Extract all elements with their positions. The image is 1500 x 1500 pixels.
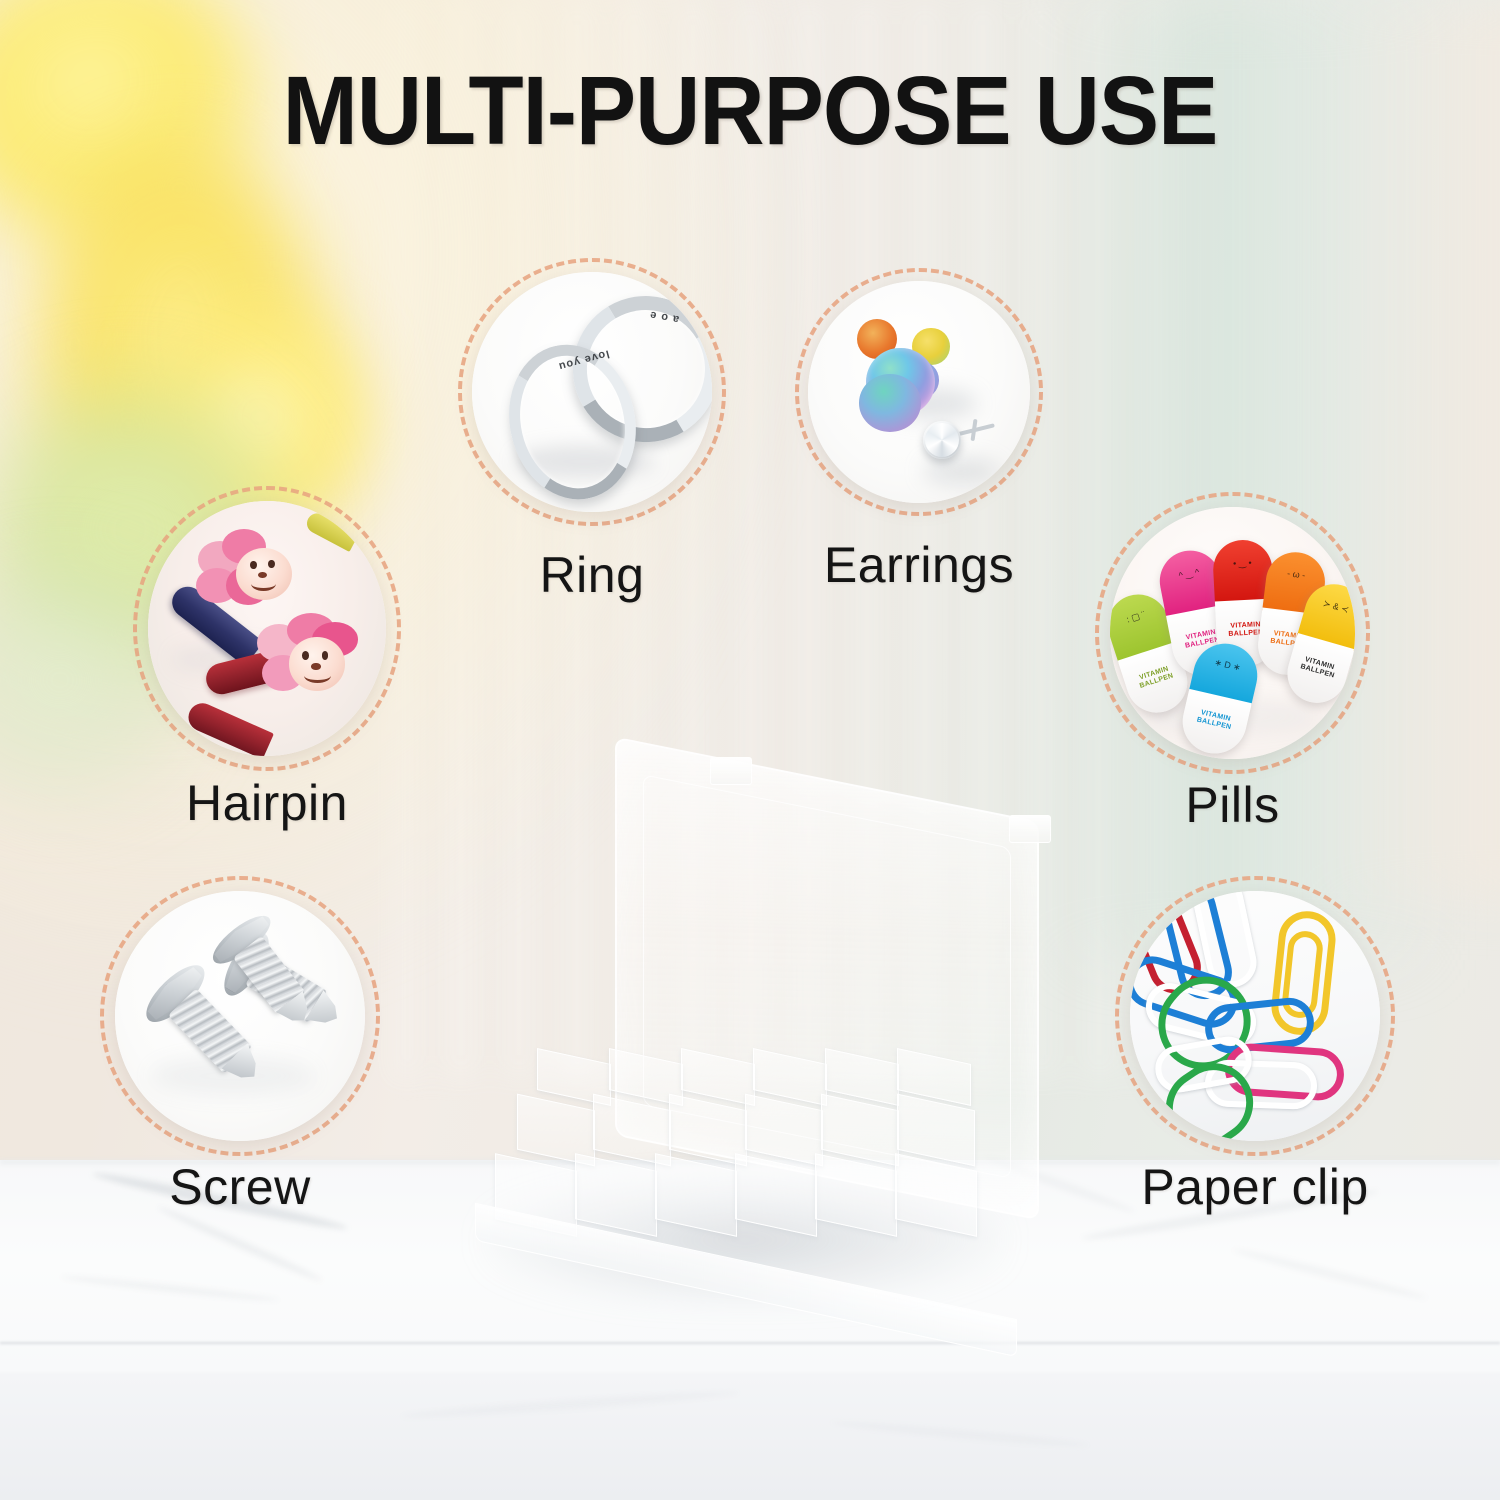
callout-screw: Screw: [100, 876, 380, 1156]
product-marketing-image: MULTI-PURPOSE USE a o e love you Ring: [0, 0, 1500, 1500]
counter-front-edge: [0, 1342, 1500, 1345]
callout-label-earrings: Earrings: [795, 536, 1043, 594]
hairpin-red-clip-2: [184, 699, 274, 756]
callout-hairpin: Hairpin: [133, 486, 401, 771]
hairpin-yellow-partial: [303, 510, 359, 553]
callout-label-pills: Pills: [1095, 776, 1370, 834]
compartment: [681, 1048, 755, 1106]
earring-mouse-body: [859, 374, 921, 432]
callout-pills: : ▢ ¨ VITAMINBALLPEN ^ ‿ ^ VITAMINBALLPE…: [1095, 492, 1370, 774]
organizer-box: [455, 775, 1025, 1335]
compartment: [815, 1153, 897, 1237]
compartment: [575, 1153, 657, 1237]
compartment: [895, 1153, 977, 1237]
page-title: MULTI-PURPOSE USE: [53, 62, 1448, 159]
callout-photo-pills: : ▢ ¨ VITAMINBALLPEN ^ ‿ ^ VITAMINBALLPE…: [1110, 507, 1355, 759]
box-latch-tab-left: [710, 757, 752, 785]
callout-photo-earrings: [808, 281, 1030, 503]
crystal-gem: [925, 423, 959, 457]
callout-photo-ring: a o e love you: [472, 272, 712, 512]
character-face-2: [289, 637, 346, 691]
box-tray: [475, 1050, 1015, 1295]
hairpin-flower-topper-1: [196, 529, 296, 613]
callout-label-hairpin: Hairpin: [133, 774, 401, 832]
callout-photo-screw: [115, 891, 365, 1141]
callout-earrings: Earrings: [795, 268, 1043, 516]
compartment: [821, 1094, 899, 1167]
callout-label-paper-clip: Paper clip: [1115, 1158, 1395, 1216]
compartment: [735, 1153, 817, 1237]
callout-label-screw: Screw: [100, 1158, 380, 1216]
callout-ring: a o e love you Ring: [458, 258, 726, 526]
character-face-1: [236, 548, 292, 600]
box-latch-tab-right: [1009, 815, 1051, 843]
callout-photo-paper-clip: [1130, 891, 1380, 1141]
callout-paper-clip: Paper clip: [1115, 876, 1395, 1156]
compartment: [655, 1153, 737, 1237]
hairpin-flower-topper-2: [257, 613, 362, 700]
callout-label-ring: Ring: [458, 546, 726, 604]
compartment: [745, 1094, 823, 1167]
crystal-stud-earring: [923, 421, 961, 459]
callout-photo-hairpin: [148, 501, 386, 756]
